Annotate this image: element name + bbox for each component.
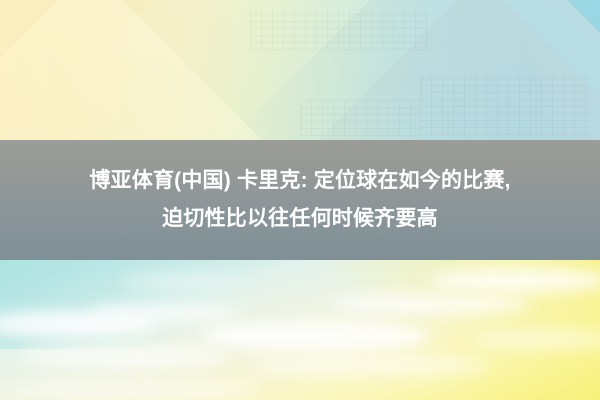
background-texture-b	[420, 75, 590, 135]
sky-cool-wash	[0, 259, 300, 349]
background-texture-a	[250, 10, 430, 50]
sky-warm-wash	[300, 259, 600, 400]
headline-text: 博亚体育(中国) 卡里克: 定位球在如今的比赛, 迫切性比以往任何时候齐要高	[20, 162, 580, 238]
banner-image: 博亚体育(中国) 卡里克: 定位球在如今的比赛, 迫切性比以往任何时候齐要高	[0, 0, 600, 400]
top-gradient-panel	[0, 0, 600, 141]
background-texture-c	[300, 100, 420, 136]
headline-band: 博亚体育(中国) 卡里克: 定位球在如今的比赛, 迫切性比以往任何时候齐要高	[0, 140, 600, 260]
bottom-sky-panel	[0, 259, 600, 400]
cloud-shape	[0, 379, 260, 400]
